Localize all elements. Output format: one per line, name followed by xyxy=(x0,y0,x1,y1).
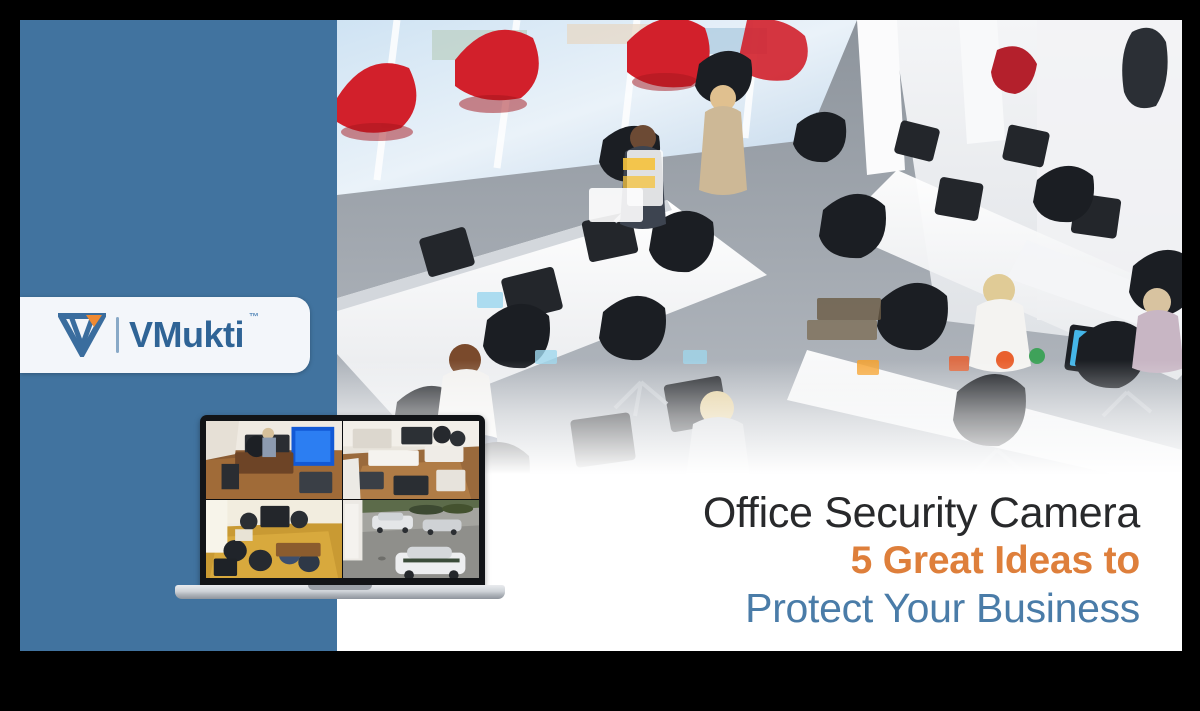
cctv-feed-4 xyxy=(343,500,479,578)
brand-name: VMukti ™ xyxy=(129,317,244,353)
laptop-cctv-monitor xyxy=(175,415,505,615)
screenshot-canvas: VMukti ™ xyxy=(0,0,1200,711)
vmukti-v-logo-icon xyxy=(58,313,106,357)
headline-line-3: Protect Your Business xyxy=(703,588,1140,629)
ceiling-dome-security-camera xyxy=(337,20,497,170)
laptop-screen xyxy=(200,415,485,587)
trademark-symbol: ™ xyxy=(249,313,259,323)
laptop-hinge-notch xyxy=(308,585,372,590)
cctv-feed-grid xyxy=(206,421,479,578)
vmukti-logo[interactable]: VMukti ™ xyxy=(20,297,310,373)
headline-line-2: 5 Great Ideas to xyxy=(703,541,1140,580)
banner-card: VMukti ™ xyxy=(20,20,1182,651)
headline-block: Office Security Camera 5 Great Ideas to … xyxy=(703,492,1140,629)
headline-line-1: Office Security Camera xyxy=(703,492,1140,535)
cctv-feed-2 xyxy=(343,421,479,499)
logo-divider xyxy=(116,317,119,353)
cctv-feed-1 xyxy=(206,421,342,499)
brand-name-text: VMukti xyxy=(129,314,244,355)
cctv-feed-3 xyxy=(206,500,342,578)
